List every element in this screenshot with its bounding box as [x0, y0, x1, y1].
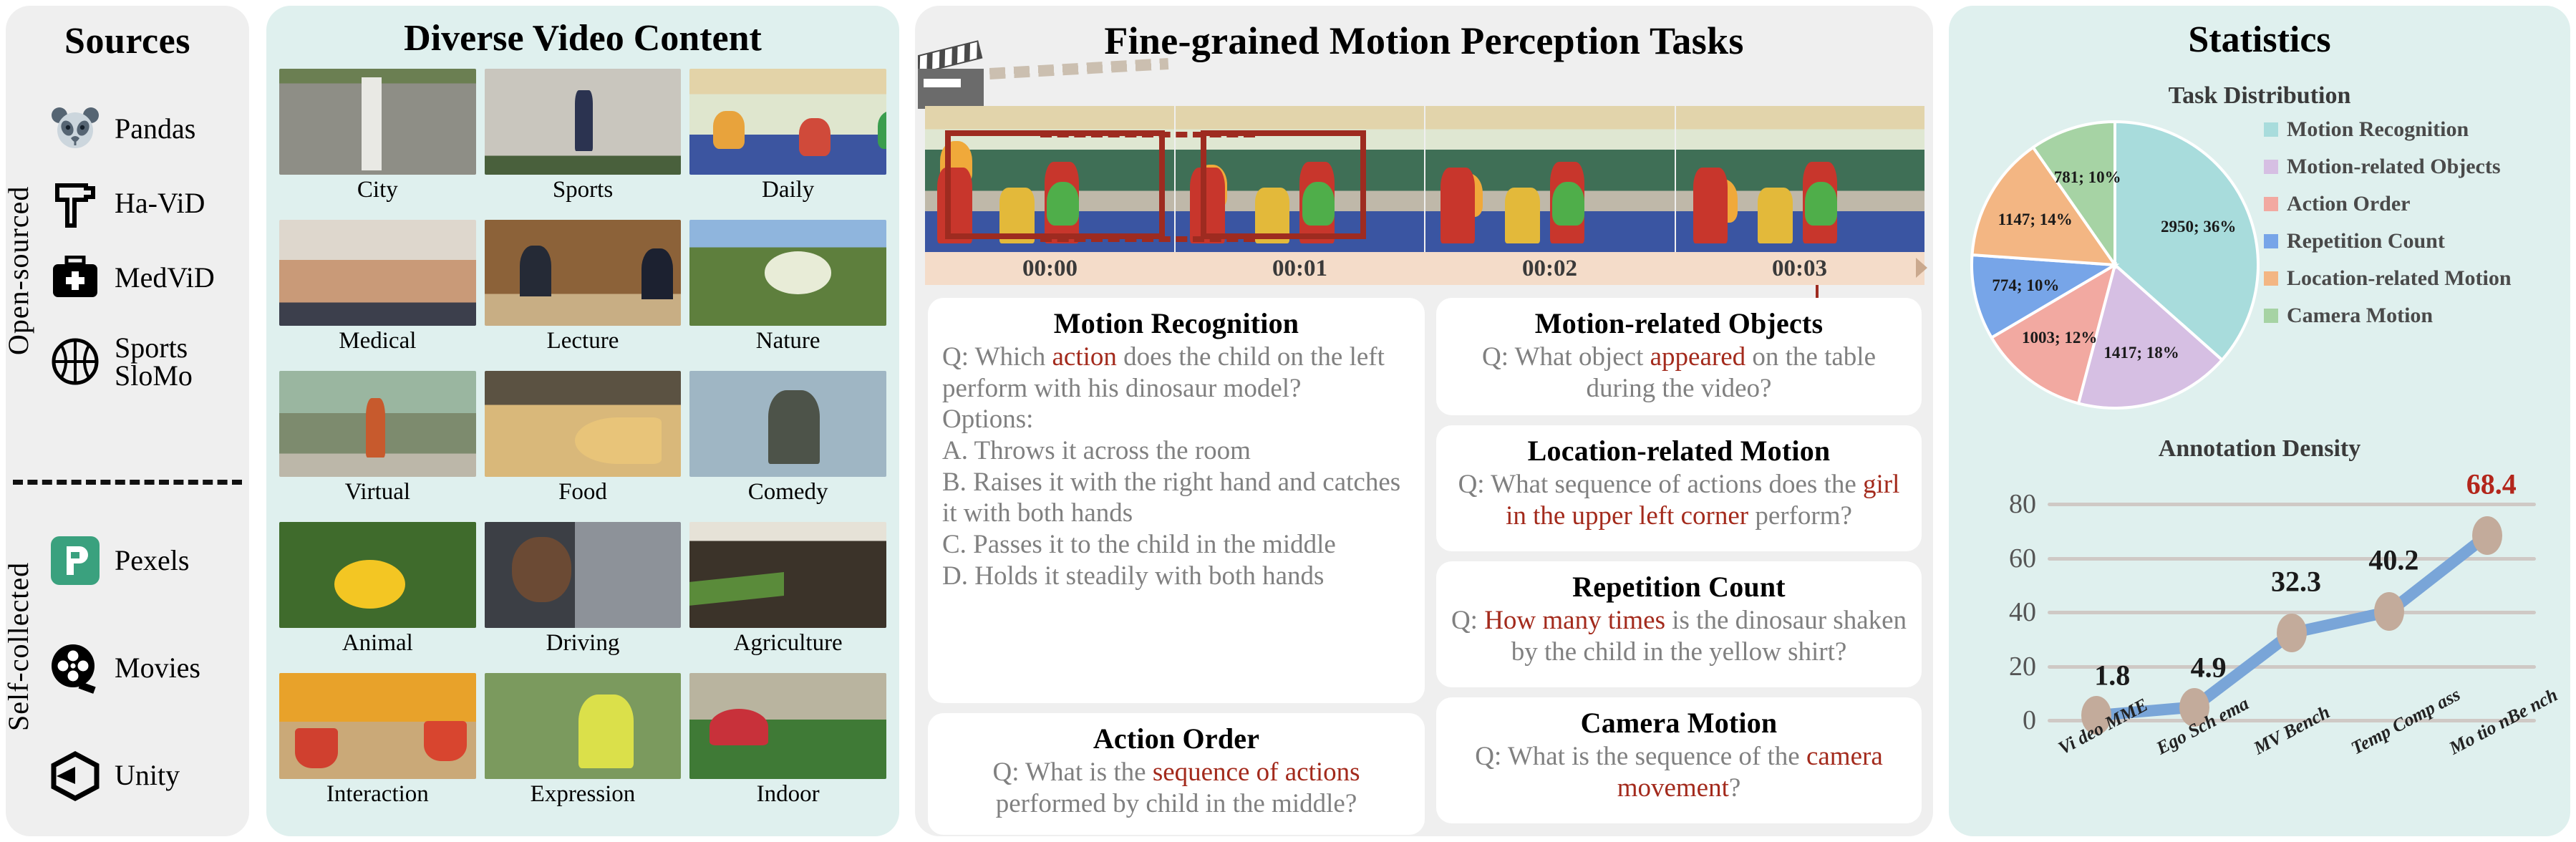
question-suffix: performed by child in the middle? — [996, 789, 1357, 818]
data-point-label: 4.9 — [2191, 650, 2227, 684]
timeline-arrow-icon — [1916, 258, 1927, 278]
video-thumbnail-agriculture[interactable] — [689, 522, 886, 628]
pie-slice-label: 1147; 14% — [1998, 210, 2073, 229]
video-cell[interactable]: Lecture — [485, 220, 682, 371]
video-caption: Driving — [546, 631, 620, 655]
motion-perception-tasks-panel: Fine-grained Motion Perception Tasks — [915, 6, 1933, 836]
video-thumbnail-interaction[interactable] — [279, 673, 476, 779]
line-chart-title: Annotation Density — [1949, 435, 2570, 463]
pie-svg — [1965, 115, 2265, 415]
video-caption: Daily — [762, 178, 814, 202]
video-thumbnail-expression[interactable] — [485, 673, 682, 779]
task-card-repetition-count[interactable]: Repetition Count Q: How many times is th… — [1436, 561, 1922, 687]
video-caption: Medical — [339, 329, 416, 353]
legend-swatch — [2264, 122, 2278, 137]
data-point-label: 1.8 — [2094, 659, 2130, 692]
pexels-icon — [47, 535, 103, 586]
source-item-medvid[interactable]: MedViD — [47, 241, 248, 315]
video-cell[interactable]: Driving — [485, 522, 682, 673]
video-thumbnail-animal[interactable] — [279, 522, 476, 628]
legend-label: Location-related Motion — [2287, 268, 2512, 289]
legend-label: Camera Motion — [2287, 305, 2433, 326]
unity-icon — [47, 750, 103, 801]
line-series — [1963, 470, 2557, 828]
option-a[interactable]: A. Throws it across the room — [942, 435, 1410, 467]
pie-chart-legend: Motion Recognition Motion-related Object… — [2264, 119, 2565, 326]
question-suffix: perform? — [1748, 501, 1852, 531]
source-item-pandas[interactable]: Pandas — [47, 92, 248, 166]
legend-swatch — [2264, 197, 2278, 211]
video-timeline[interactable]: 00:00 00:01 00:02 00:03 — [925, 252, 1924, 285]
legend-item: Motion-related Objects — [2264, 156, 2565, 178]
task-heading: Motion-related Objects — [1451, 306, 1907, 340]
option-d[interactable]: D. Holds it steadily with both hands — [942, 561, 1410, 592]
video-cell[interactable]: Comedy — [689, 371, 886, 522]
source-label: Movies — [115, 654, 200, 682]
source-item-havid[interactable]: Ha-ViD — [47, 166, 248, 241]
video-caption: Nature — [756, 329, 820, 353]
video-caption: Indoor — [757, 783, 820, 806]
annotation-box-frame-2 — [1201, 130, 1365, 239]
pie-slice-label: 1003; 12% — [2022, 329, 2097, 347]
source-item-sports-slomo[interactable]: Sports SloMo — [47, 315, 248, 408]
self-collected-list: Pexels Movies — [47, 507, 248, 829]
task-heading: Location-related Motion — [1451, 434, 1907, 468]
video-cell[interactable]: Expression — [485, 673, 682, 824]
video-caption: Animal — [342, 631, 413, 655]
task-question: Q: What is the sequence of actions perfo… — [942, 757, 1410, 819]
task-question: Q: What object appeared on the table dur… — [1451, 342, 1907, 404]
pie-slice-label: 2950; 36% — [2161, 218, 2236, 236]
video-caption: Food — [558, 480, 607, 504]
source-item-pexels[interactable]: Pexels — [47, 507, 248, 614]
video-cell[interactable]: Daily — [689, 69, 886, 220]
timeline-tick: 00:01 — [1175, 252, 1425, 285]
data-point-marker — [2374, 592, 2404, 631]
video-caption: Expression — [531, 783, 636, 806]
task-heading: Motion Recognition — [942, 306, 1410, 340]
timeline-tick: 00:02 — [1425, 252, 1675, 285]
annotation-box-frame-1 — [945, 130, 1165, 239]
video-cell[interactable]: Nature — [689, 220, 886, 371]
timeline-tick: 00:03 — [1675, 252, 1924, 285]
task-heading: Repetition Count — [1451, 570, 1907, 604]
option-b[interactable]: B. Raises it with the right hand and cat… — [942, 467, 1410, 529]
option-c[interactable]: C. Passes it to the child in the middle — [942, 529, 1410, 561]
panda-icon — [47, 105, 103, 153]
source-label: Pandas — [115, 115, 195, 142]
video-thumbnail-comedy[interactable] — [689, 371, 886, 477]
video-caption: City — [357, 178, 398, 202]
video-thumbnail-virtual[interactable] — [279, 371, 476, 477]
source-label: Sports SloMo — [115, 334, 193, 389]
question-prefix: Q: What is the sequence of the — [1475, 742, 1806, 771]
legend-item: Camera Motion — [2264, 305, 2565, 326]
pie-slice-label: 781; 10% — [2054, 168, 2121, 187]
video-caption: Sports — [553, 178, 613, 202]
data-point-marker — [2277, 614, 2307, 652]
source-item-unity[interactable]: Unity — [47, 722, 248, 829]
video-cell[interactable]: Indoor — [689, 673, 886, 824]
legend-label: Repetition Count — [2287, 231, 2445, 252]
question-keyword: appeared — [1650, 342, 1746, 372]
video-cell[interactable]: Sports — [485, 69, 682, 220]
legend-label: Action Order — [2287, 193, 2410, 215]
source-item-movies[interactable]: Movies — [47, 614, 248, 722]
legend-swatch — [2264, 271, 2278, 286]
legend-item: Action Order — [2264, 193, 2565, 215]
legend-item: Motion Recognition — [2264, 119, 2565, 140]
task-card-camera-motion[interactable]: Camera Motion Q: What is the sequence of… — [1436, 697, 1922, 823]
source-label: Unity — [115, 761, 180, 789]
source-label: Pexels — [115, 546, 189, 574]
open-sourced-group-label: Open-sourced — [1, 127, 35, 414]
task-card-motion-related-objects[interactable]: Motion-related Objects Q: What object ap… — [1436, 298, 1922, 415]
task-card-columns: Motion Recognition Q: Which action does … — [928, 298, 1922, 835]
video-cell[interactable]: Medical — [279, 220, 476, 371]
question-keyword: sequence of actions — [1153, 758, 1360, 787]
timeline-tick: 00:00 — [925, 252, 1175, 285]
legend-item: Repetition Count — [2264, 231, 2565, 252]
task-column-left: Motion Recognition Q: Which action does … — [928, 298, 1425, 835]
task-heading: Action Order — [942, 722, 1410, 755]
hammer-icon — [47, 178, 103, 228]
data-point-marker — [2472, 516, 2502, 555]
video-cell[interactable]: Virtual — [279, 371, 476, 522]
infographic-stage: Sources Open-sourced Self-collected — [0, 0, 2576, 842]
video-content-title: Diverse Video Content — [266, 17, 899, 59]
legend-swatch — [2264, 234, 2278, 248]
video-thumbnail-driving[interactable] — [485, 522, 682, 628]
options-label: Options: — [942, 404, 1410, 435]
video-thumbnail-city[interactable] — [279, 69, 476, 175]
video-caption: Virtual — [345, 480, 411, 504]
video-thumbnail-grid: City Sports Daily Medical Lecture Nature… — [279, 69, 886, 826]
task-question: Q: What sequence of actions does the gir… — [1451, 469, 1907, 531]
video-caption: Agriculture — [734, 631, 843, 655]
task-distribution-pie-chart: 2950; 36%1417; 18%1003; 12%774; 10%1147;… — [1965, 115, 2265, 415]
video-thumbnail-nature[interactable] — [689, 220, 886, 326]
pie-slice-label: 1417; 18% — [2103, 344, 2179, 362]
annotation-link-bottom — [1040, 236, 1255, 242]
video-thumbnail-sports[interactable] — [485, 69, 682, 175]
video-caption: Interaction — [326, 783, 429, 806]
statistics-panel: Statistics Task Distribution 2950; 36%14… — [1949, 6, 2570, 836]
pie-slice-label: 774; 10% — [1992, 276, 2059, 295]
data-point-label: 68.4 — [2466, 467, 2517, 500]
question-keyword: action — [1052, 342, 1116, 372]
source-label: MedViD — [115, 263, 215, 291]
task-heading: Camera Motion — [1451, 706, 1907, 740]
video-cell[interactable]: Food — [485, 371, 682, 522]
task-card-action-order[interactable]: Action Order Q: What is the sequence of … — [928, 713, 1425, 835]
video-thumbnail-indoor[interactable] — [689, 673, 886, 779]
task-question: Q: How many times is the dinosaur shaken… — [1451, 605, 1907, 667]
video-cell[interactable]: Animal — [279, 522, 476, 673]
sources-title: Sources — [6, 20, 249, 62]
question-keyword: How many times — [1484, 606, 1665, 635]
film-reel-icon — [47, 642, 103, 694]
question-prefix: Q: — [1451, 606, 1484, 635]
legend-label: Motion-related Objects — [2287, 156, 2501, 178]
diverse-video-content-panel: Diverse Video Content City Sports Daily … — [266, 6, 899, 836]
question-prefix: Q: What sequence of actions does the — [1458, 470, 1863, 499]
task-question: Q: What is the sequence of the camera mo… — [1451, 741, 1907, 803]
video-cell[interactable]: Interaction — [279, 673, 476, 824]
video-frame — [1676, 106, 1925, 252]
question-prefix: Q: What is the — [992, 758, 1152, 787]
video-caption: Comedy — [748, 480, 828, 504]
data-point-label: 32.3 — [2271, 565, 2321, 599]
task-card-motion-recognition[interactable]: Motion Recognition Q: Which action does … — [928, 298, 1425, 703]
video-cell[interactable]: City — [279, 69, 476, 220]
legend-swatch — [2264, 160, 2278, 174]
annotation-density-chart: 0204060801.8Vi deo MME4.9Ego Sch ema32.3… — [1963, 470, 2557, 828]
basketball-icon — [47, 337, 103, 386]
open-sourced-list: Pandas Ha-ViD — [47, 92, 248, 408]
data-point-label: 40.2 — [2368, 543, 2418, 577]
question-prefix: Q: Which — [942, 342, 1052, 372]
annotation-link-top — [1040, 132, 1255, 137]
self-collected-group-label: Self-collected — [1, 478, 35, 815]
legend-swatch — [2264, 309, 2278, 323]
task-question: Q: Which action does the child on the le… — [942, 342, 1410, 404]
question-suffix: ? — [1729, 773, 1740, 803]
sources-panel: Sources Open-sourced Self-collected — [6, 6, 249, 836]
video-thumbnail-medical[interactable] — [279, 220, 476, 326]
task-card-location-related-motion[interactable]: Location-related Motion Q: What sequence… — [1436, 425, 1922, 551]
statistics-title: Statistics — [1949, 19, 2570, 61]
sources-divider — [13, 480, 242, 485]
question-prefix: Q: What object — [1482, 342, 1650, 372]
pie-chart-title: Task Distribution — [1949, 82, 2570, 110]
video-filmstrip — [925, 106, 1924, 252]
task-column-right: Motion-related Objects Q: What object ap… — [1436, 298, 1922, 835]
video-thumbnail-daily[interactable] — [689, 69, 886, 175]
legend-item: Location-related Motion — [2264, 268, 2565, 289]
video-thumbnail-food[interactable] — [485, 371, 682, 477]
medical-kit-icon — [47, 256, 103, 300]
source-label: Ha-ViD — [115, 189, 205, 217]
video-cell[interactable]: Agriculture — [689, 522, 886, 673]
video-caption: Lecture — [547, 329, 619, 353]
legend-label: Motion Recognition — [2287, 119, 2469, 140]
video-frame — [1425, 106, 1675, 252]
video-thumbnail-lecture[interactable] — [485, 220, 682, 326]
tasks-title: Fine-grained Motion Perception Tasks — [915, 19, 1933, 63]
